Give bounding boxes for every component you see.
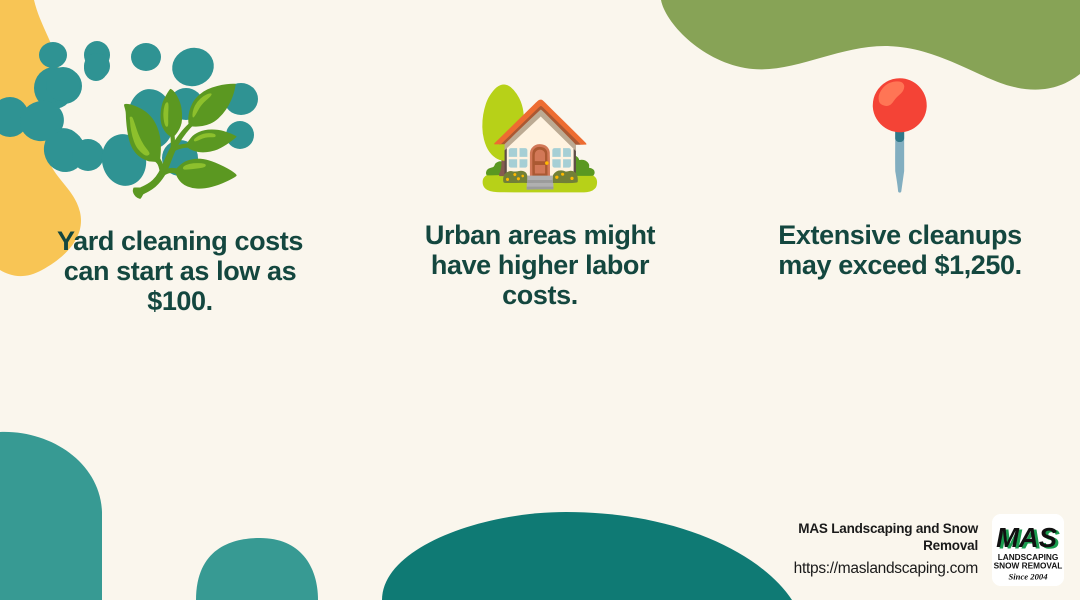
mas-logo-graphic: MAS MAS LANDSCAPING SNOW REMOVAL Since 2… — [992, 514, 1064, 586]
house-with-garden-icon: 🏡 — [475, 66, 605, 206]
mas-logo: MAS MAS LANDSCAPING SNOW REMOVAL Since 2… — [992, 514, 1064, 586]
caption-urban-labor: Urban areas might have higher labor cost… — [400, 220, 680, 311]
logo-mark: MAS — [996, 522, 1057, 553]
light-teal-arch-left — [0, 432, 102, 600]
logo-tagline: Since 2004 — [1008, 572, 1048, 582]
logo-line-1: LANDSCAPING — [998, 553, 1059, 562]
column-extensive-cleanups: 📍 Extensive cleanups may exceed $1,250. — [720, 0, 1080, 280]
branding-block: MAS Landscaping and Snow Removal https:/… — [778, 514, 1064, 586]
website-url[interactable]: https://maslandscaping.com — [794, 560, 978, 579]
dark-teal-dome — [382, 512, 792, 600]
round-pushpin-icon: 📍 — [835, 66, 965, 206]
caption-extensive-cleanups: Extensive cleanups may exceed $1,250. — [754, 220, 1046, 280]
infographic-canvas: 🌿 Yard cleaning costs can start as low a… — [0, 0, 1080, 600]
light-teal-dome — [196, 538, 318, 600]
columns-container: 🌿 Yard cleaning costs can start as low a… — [0, 0, 1080, 360]
caption-yard-cleaning: Yard cleaning costs can start as low as … — [35, 226, 325, 317]
column-urban-labor: 🏡 Urban areas might have higher labor co… — [360, 0, 720, 311]
branding-text: MAS Landscaping and Snow Removal https:/… — [778, 521, 978, 579]
company-name: MAS Landscaping and Snow Removal — [778, 521, 978, 554]
logo-line-2: SNOW REMOVAL — [994, 562, 1063, 571]
herb-leaf-icon: 🌿 — [115, 72, 245, 212]
column-yard-cleaning: 🌿 Yard cleaning costs can start as low a… — [0, 0, 360, 317]
